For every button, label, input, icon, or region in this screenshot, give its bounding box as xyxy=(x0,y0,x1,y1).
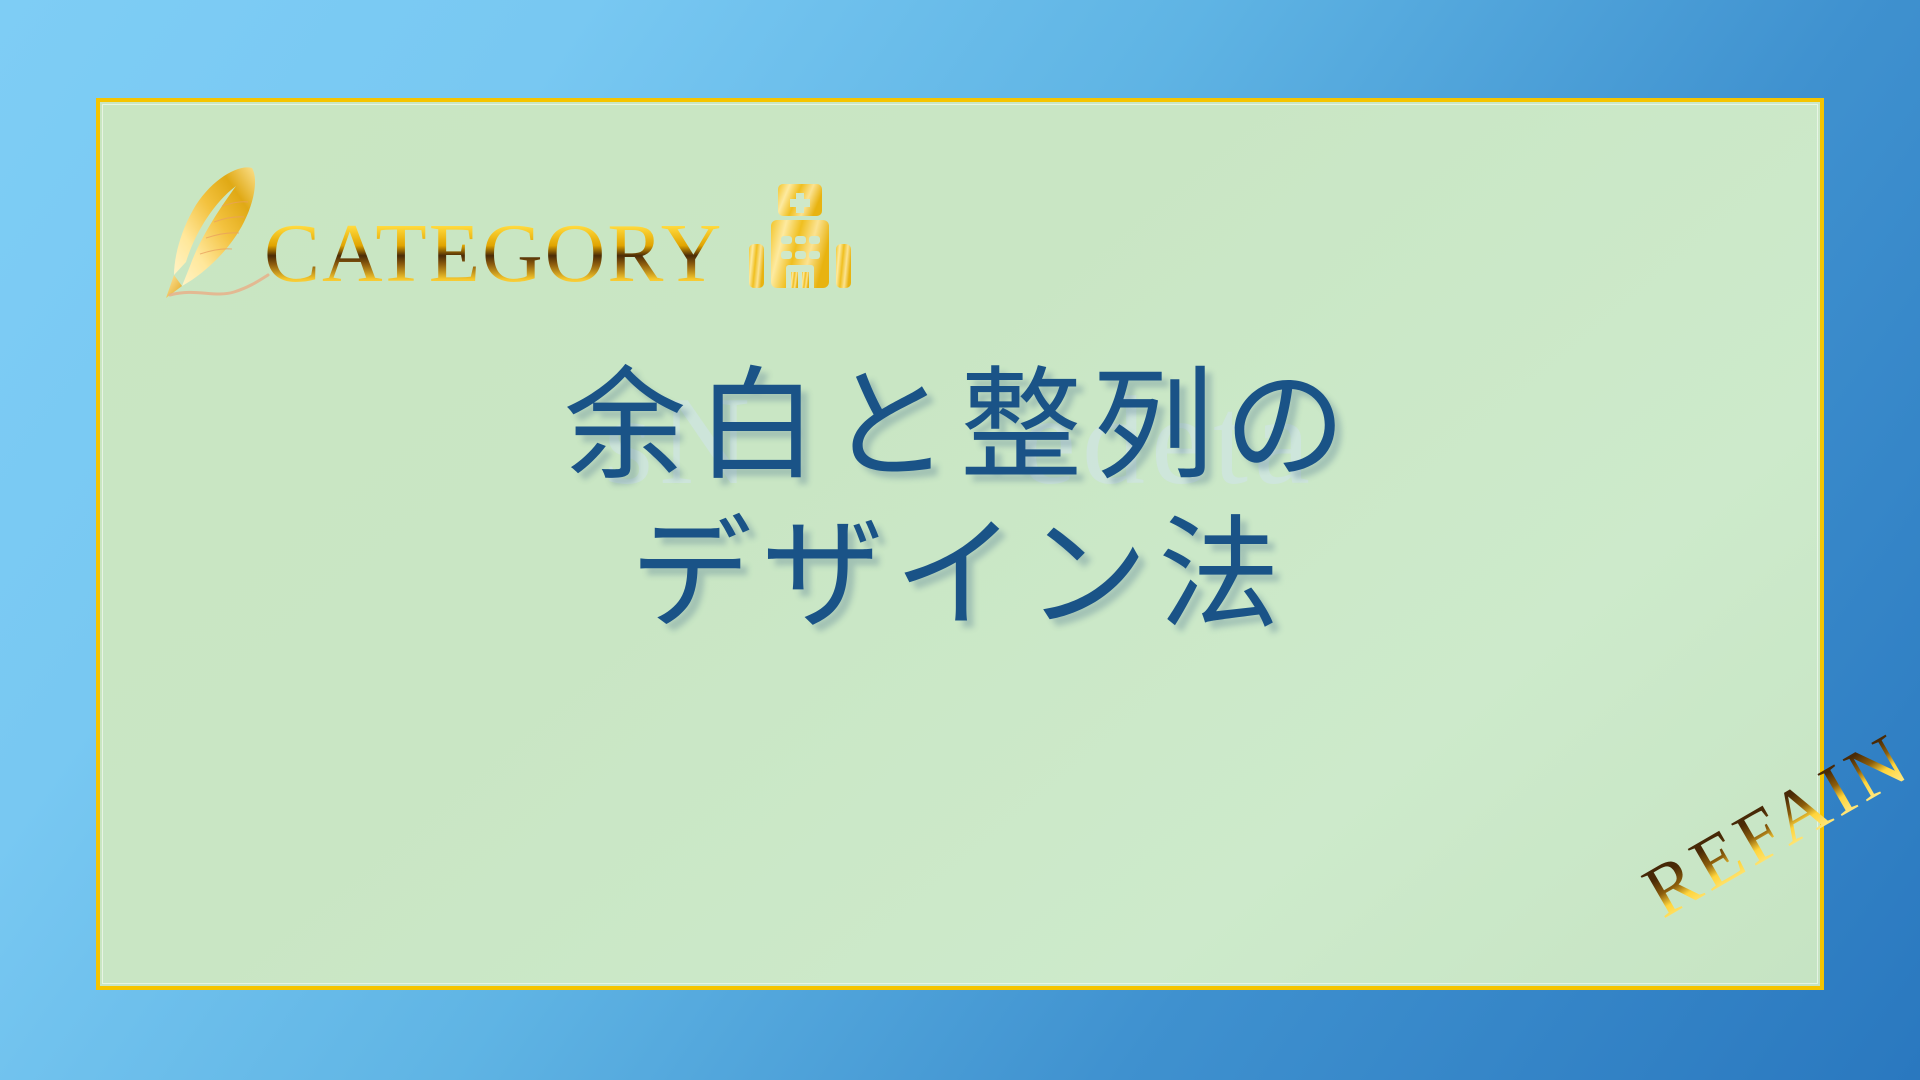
page-title: 余白と整列の デザイン法 xyxy=(100,352,1820,650)
page-title-line-2: デザイン法 xyxy=(100,501,1820,650)
page-title-line-1: 余白と整列の xyxy=(100,352,1820,501)
quill-feather-icon xyxy=(160,162,270,302)
category-label: CATEGORY xyxy=(264,212,729,296)
slide-canvas: CATEGORY xyxy=(0,0,1920,1080)
content-panel: CATEGORY xyxy=(96,98,1824,990)
category-eyebrow: CATEGORY xyxy=(160,152,855,302)
hospital-building-icon xyxy=(745,182,855,300)
